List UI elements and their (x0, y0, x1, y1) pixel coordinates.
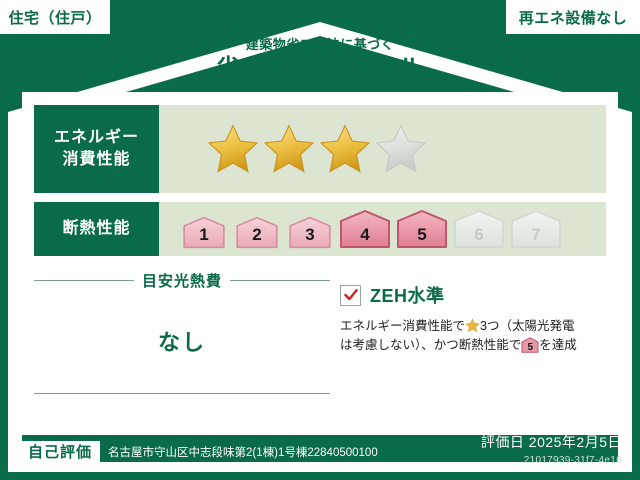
utility-cost-section: 目安光熱費 なし (34, 270, 330, 394)
energy-label-line1: エネルギー (54, 127, 139, 149)
insulation-performance-label: 断熱性能 (34, 202, 159, 256)
heading-rule-left (34, 280, 134, 281)
insulation-grade-1: 1 (179, 216, 229, 249)
star-icon-empty (375, 123, 427, 175)
energy-performance-value (159, 105, 606, 193)
energy-performance-label: エネルギー 消費性能 (34, 105, 159, 193)
energy-performance-row: エネルギー 消費性能 (34, 105, 606, 193)
insulation-performance-row: 断熱性能 1234567 (34, 202, 606, 256)
heading-rule-right (230, 280, 330, 281)
insulation-grade-value: 5 (395, 225, 449, 245)
insulation-grade-5: 5 (395, 209, 449, 249)
star-icon-filled (263, 123, 315, 175)
insulation-badge-inline: 5 (521, 337, 539, 353)
energy-label-root: 住宅（住戸） 再エネ設備なし 建築物省エネ法に基づく 省エネ性能ラベル エネルギ… (0, 0, 640, 480)
utility-cost-title: 目安光熱費 (142, 270, 222, 291)
footer-left: 自己評価 名古屋市守山区中志段味第2(1棟)1号棟22840500100 (20, 441, 378, 464)
document-id: 21017939-31f7-4e16 (481, 455, 622, 466)
insulation-grade-2: 2 (232, 216, 282, 249)
utility-cost-bottom-rule (34, 393, 330, 394)
insulation-grade-value: 1 (179, 225, 229, 245)
footer-right: 評価日 2025年2月5日 21017939-31f7-4e16 (481, 432, 622, 466)
insulation-grade-scale: 1234567 (179, 209, 563, 249)
zeh-checkbox[interactable] (340, 285, 361, 306)
utility-cost-value: なし (34, 325, 330, 357)
insulation-performance-value: 1234567 (159, 202, 606, 256)
insulation-grade-4: 4 (338, 209, 392, 249)
star-icon-filled (207, 123, 259, 175)
insulation-badge-value: 5 (521, 343, 539, 353)
insulation-label-text: 断熱性能 (62, 218, 130, 240)
insulation-grade-6: 6 (452, 209, 506, 249)
tag-renewable-equipment-label: 再エネ設備なし (519, 7, 628, 28)
property-address: 名古屋市守山区中志段味第2(1棟)1号棟22840500100 (108, 444, 378, 460)
star-rating (207, 123, 427, 175)
insulation-grade-value: 7 (509, 225, 563, 245)
label-subtitle: 建築物省エネ法に基づく (0, 38, 640, 51)
insulation-grade-7: 7 (509, 209, 563, 249)
zeh-section: ZEH水準 エネルギー消費性能で3つ（太陽光発電は考慮しない）、かつ断熱性能で5… (340, 282, 612, 356)
zeh-desc-part3: を達成 (539, 338, 577, 352)
label-title-block: 建築物省エネ法に基づく 省エネ性能ラベル (0, 38, 640, 82)
self-evaluation-badge: 自己評価 (20, 441, 100, 464)
zeh-desc-part2: は考慮しない）、かつ断熱性能で (340, 338, 521, 352)
energy-label-line2: 消費性能 (62, 149, 130, 171)
zeh-desc-stars: 3つ（太陽光発電 (480, 319, 574, 333)
zeh-title: ZEH水準 (370, 282, 445, 308)
check-icon (343, 287, 359, 303)
insulation-grade-value: 4 (338, 225, 392, 245)
star-icon-filled (319, 123, 371, 175)
zeh-description: エネルギー消費性能で3つ（太陽光発電は考慮しない）、かつ断熱性能で5を達成 (340, 317, 612, 356)
insulation-grade-value: 6 (452, 225, 506, 245)
insulation-grade-3: 3 (285, 216, 335, 249)
page-title: 省エネ性能ラベル (0, 57, 640, 82)
tag-housing-type: 住宅（住戸） (0, 0, 110, 34)
utility-cost-heading: 目安光熱費 (34, 270, 330, 291)
zeh-desc-part1: エネルギー消費性能で (340, 319, 465, 333)
main-panel: エネルギー 消費性能 断熱性能 1234567 目安光熱費 なし (22, 92, 618, 435)
star-icon-inline (465, 318, 480, 333)
insulation-grade-value: 3 (285, 225, 335, 245)
zeh-heading: ZEH水準 (340, 282, 612, 308)
tag-housing-type-label: 住宅（住戸） (8, 7, 101, 28)
insulation-grade-value: 2 (232, 225, 282, 245)
tag-renewable-equipment: 再エネ設備なし (506, 0, 640, 34)
evaluation-date: 評価日 2025年2月5日 (481, 432, 622, 452)
